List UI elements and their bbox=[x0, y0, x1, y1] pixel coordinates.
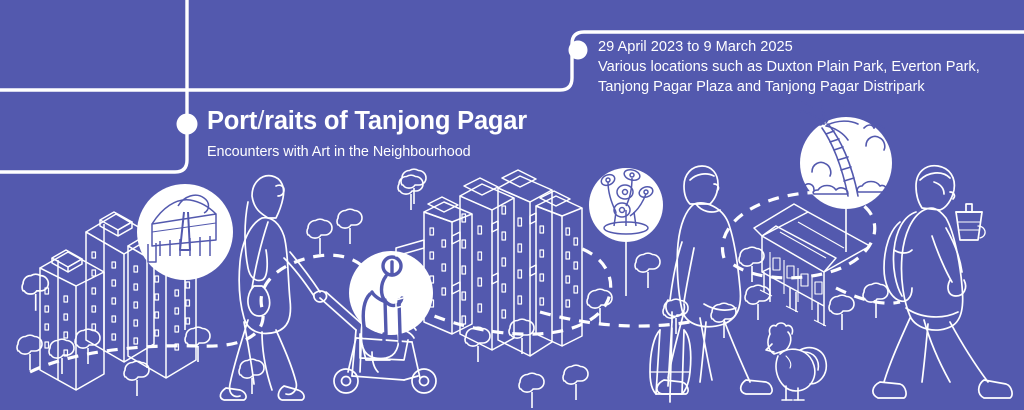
title-bullet-dot bbox=[177, 114, 198, 135]
disc-sculpture-badge bbox=[589, 168, 663, 296]
info-bullet-dot bbox=[569, 41, 588, 60]
locations-line-2: Tanjong Pagar Plaza and Tanjong Pagar Di… bbox=[598, 78, 1018, 98]
elderly-man-with-umbrella bbox=[650, 166, 772, 402]
exhibition-dates: 29 April 2023 to 9 March 2025 bbox=[598, 38, 1018, 58]
pavilion-artwork-badge bbox=[137, 184, 233, 330]
title-block: Port/raits of Tanjong Pagar Encounters w… bbox=[207, 108, 627, 160]
exhibition-locations: Various locations such as Duxton Plain P… bbox=[598, 58, 1018, 98]
page-title: Port/raits of Tanjong Pagar bbox=[207, 108, 627, 135]
title-part-2: raits of Tanjong Pagar bbox=[264, 107, 527, 135]
title-slash: / bbox=[257, 107, 264, 135]
tree-group-left bbox=[17, 274, 210, 396]
pinnacle-duxton-towers bbox=[396, 170, 582, 356]
portraits-tanjong-pagar-banner: Port/raits of Tanjong Pagar Encounters w… bbox=[0, 0, 1024, 410]
woman-pushing-stroller bbox=[220, 176, 326, 400]
title-part-1: Port bbox=[207, 107, 257, 135]
walking-person-with-drink bbox=[873, 166, 1012, 398]
connector-title-hook bbox=[0, 90, 187, 172]
palm-mural-badge bbox=[798, 96, 892, 252]
locations-line-1: Various locations such as Duxton Plain P… bbox=[598, 58, 1018, 78]
info-block: 29 April 2023 to 9 March 2025 Various lo… bbox=[598, 38, 1018, 98]
rooster bbox=[766, 323, 826, 400]
page-subtitle: Encounters with Art in the Neighbourhood bbox=[207, 144, 627, 160]
